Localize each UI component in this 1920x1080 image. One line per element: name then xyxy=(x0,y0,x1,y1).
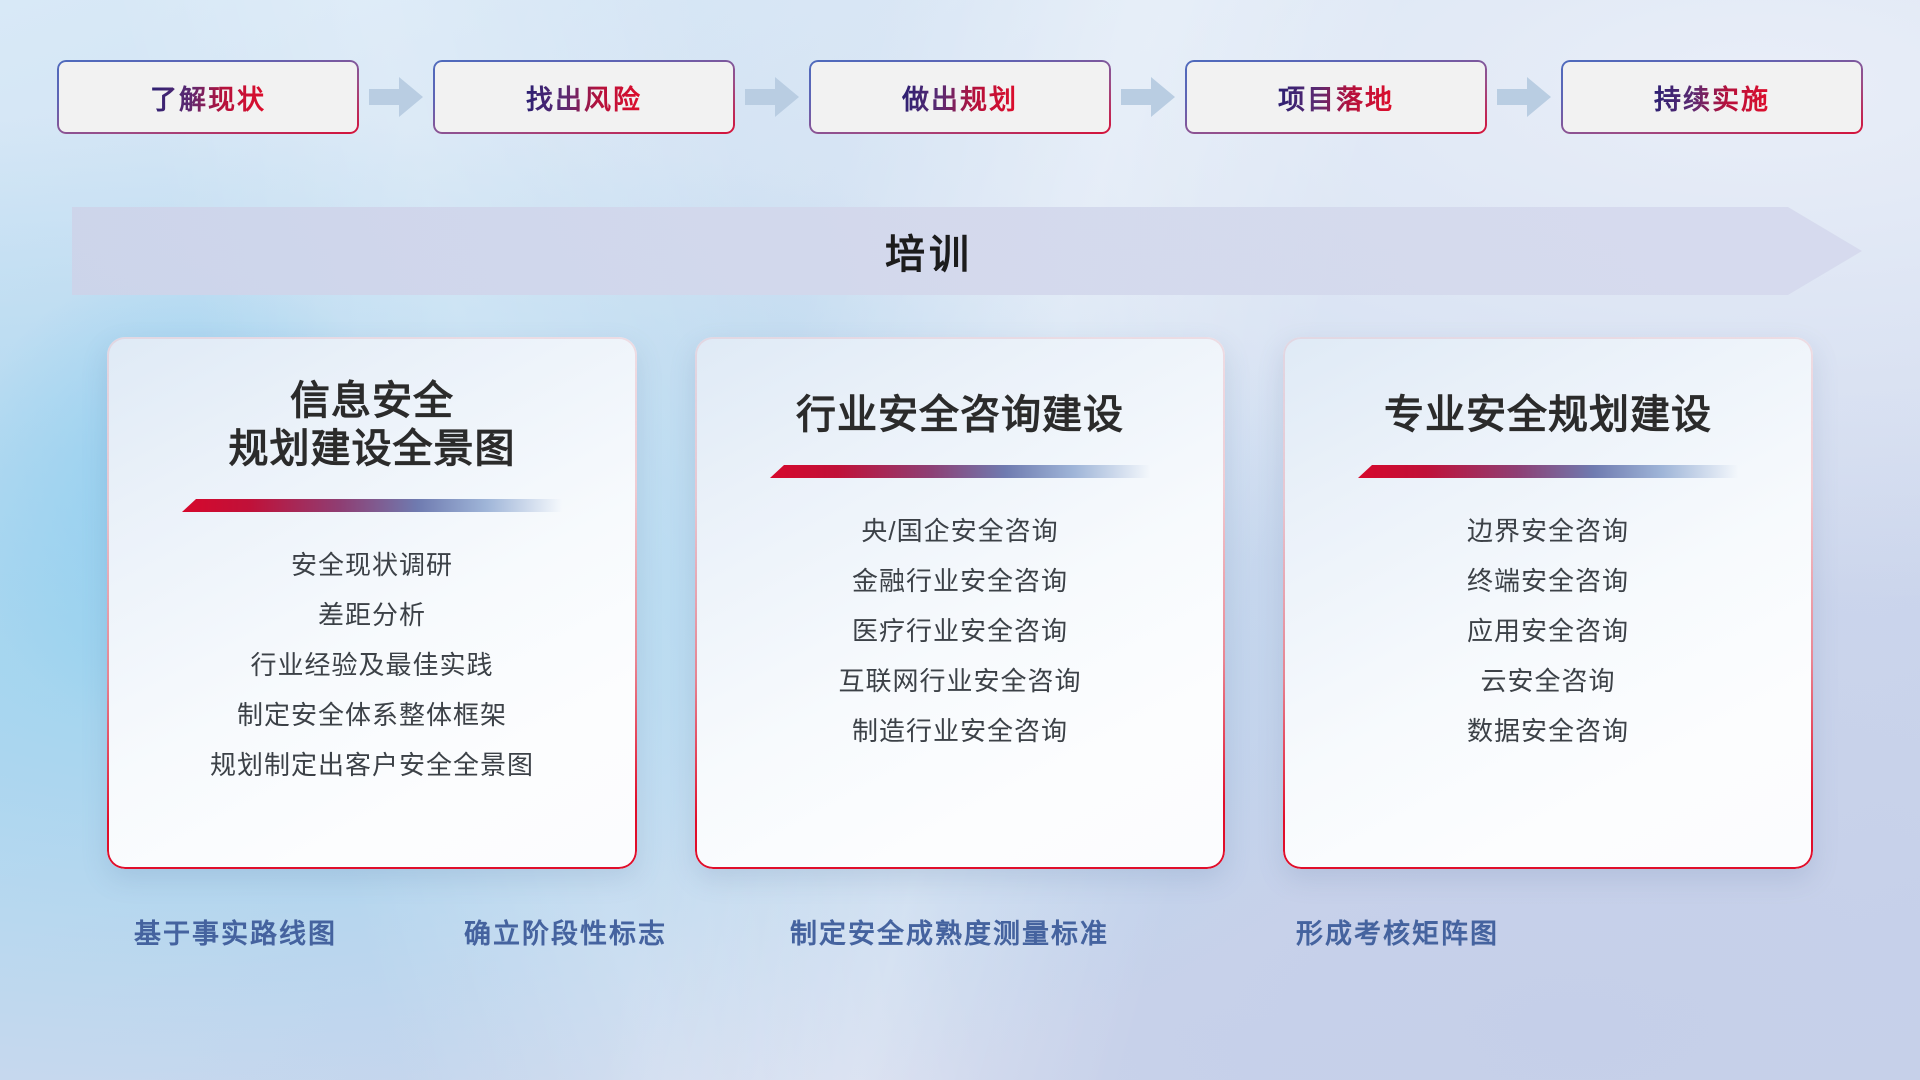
step-box-2[interactable]: 找出风险 xyxy=(433,60,735,134)
process-steps-row: 了解现状 找出风险 做出规划 xyxy=(0,60,1920,134)
footer-label-2: 确立阶段性标志 xyxy=(464,912,667,951)
list-item: 央/国企安全咨询 xyxy=(861,512,1058,551)
list-item: 云安全咨询 xyxy=(1480,662,1615,701)
card-2-title: 行业安全咨询建设 xyxy=(796,391,1124,439)
card-3-accent-bar xyxy=(1358,465,1738,478)
cards-row: 信息安全 规划建设全景图 安全现状调研 差距分析 行业经验及最佳实践 制定安全体… xyxy=(0,337,1920,869)
list-item: 制定安全体系整体框架 xyxy=(237,696,507,735)
card-1[interactable]: 信息安全 规划建设全景图 安全现状调研 差距分析 行业经验及最佳实践 制定安全体… xyxy=(107,337,637,869)
list-item: 边界安全咨询 xyxy=(1467,512,1629,551)
footer-labels-row: 基于事实路线图 确立阶段性标志 制定安全成熟度测量标准 形成考核矩阵图 xyxy=(0,912,1920,960)
list-item: 行业经验及最佳实践 xyxy=(250,646,493,685)
list-item: 安全现状调研 xyxy=(291,546,453,585)
card-2[interactable]: 行业安全咨询建设 央/国企安全咨询 金融行业安全咨询 医疗行业安全咨询 互联网行… xyxy=(695,337,1225,869)
list-item: 差距分析 xyxy=(318,596,426,635)
step-box-5-inner: 持续实施 xyxy=(1563,62,1861,132)
card-1-accent-bar xyxy=(182,499,562,512)
footer-label-4: 形成考核矩阵图 xyxy=(1296,912,1499,951)
training-banner: 培训 xyxy=(72,207,1862,295)
step-label-3: 做出规划 xyxy=(902,78,1018,117)
footer-label-1: 基于事实路线图 xyxy=(134,912,337,951)
list-item: 终端安全咨询 xyxy=(1467,562,1629,601)
list-item: 制造行业安全咨询 xyxy=(852,712,1068,751)
list-item: 应用安全咨询 xyxy=(1467,612,1629,651)
footer-label-3: 制定安全成熟度测量标准 xyxy=(790,912,1109,951)
step-label-1: 了解现状 xyxy=(150,78,266,117)
list-item: 数据安全咨询 xyxy=(1467,712,1629,751)
card-1-title-line-2: 规划建设全景图 xyxy=(229,425,516,473)
card-3-title: 专业安全规划建设 xyxy=(1384,391,1712,439)
card-2-accent-bar xyxy=(770,465,1150,478)
right-arrow-icon-1 xyxy=(369,77,423,117)
slide-canvas: 了解现状 找出风险 做出规划 xyxy=(0,0,1920,1080)
step-box-3-inner: 做出规划 xyxy=(811,62,1109,132)
step-box-2-inner: 找出风险 xyxy=(435,62,733,132)
step-label-5: 持续实施 xyxy=(1654,78,1770,117)
banner-title: 培训 xyxy=(885,222,973,280)
right-arrow-icon-3 xyxy=(1121,77,1175,117)
list-item: 互联网行业安全咨询 xyxy=(838,662,1081,701)
card-1-list: 安全现状调研 差距分析 行业经验及最佳实践 制定安全体系整体框架 规划制定出客户… xyxy=(133,546,611,785)
list-item: 规划制定出客户安全全景图 xyxy=(210,746,534,785)
card-1-title: 信息安全 规划建设全景图 xyxy=(229,377,516,473)
list-item: 金融行业安全咨询 xyxy=(852,562,1068,601)
card-2-list: 央/国企安全咨询 金融行业安全咨询 医疗行业安全咨询 互联网行业安全咨询 制造行… xyxy=(721,512,1199,751)
step-box-1-inner: 了解现状 xyxy=(59,62,357,132)
step-label-4: 项目落地 xyxy=(1278,78,1394,117)
card-1-title-line-1: 信息安全 xyxy=(229,377,516,425)
right-arrow-icon-2 xyxy=(745,77,799,117)
step-box-5[interactable]: 持续实施 xyxy=(1561,60,1863,134)
card-3[interactable]: 专业安全规划建设 边界安全咨询 终端安全咨询 应用安全咨询 云安全咨询 数据安全… xyxy=(1283,337,1813,869)
step-box-4-inner: 项目落地 xyxy=(1187,62,1485,132)
list-item: 医疗行业安全咨询 xyxy=(852,612,1068,651)
step-box-1[interactable]: 了解现状 xyxy=(57,60,359,134)
card-3-title-line-1: 专业安全规划建设 xyxy=(1384,391,1712,439)
step-box-3[interactable]: 做出规划 xyxy=(809,60,1111,134)
step-label-2: 找出风险 xyxy=(526,78,642,117)
card-2-title-line-1: 行业安全咨询建设 xyxy=(796,391,1124,439)
right-arrow-icon-4 xyxy=(1497,77,1551,117)
step-box-4[interactable]: 项目落地 xyxy=(1185,60,1487,134)
card-3-list: 边界安全咨询 终端安全咨询 应用安全咨询 云安全咨询 数据安全咨询 xyxy=(1309,512,1787,751)
